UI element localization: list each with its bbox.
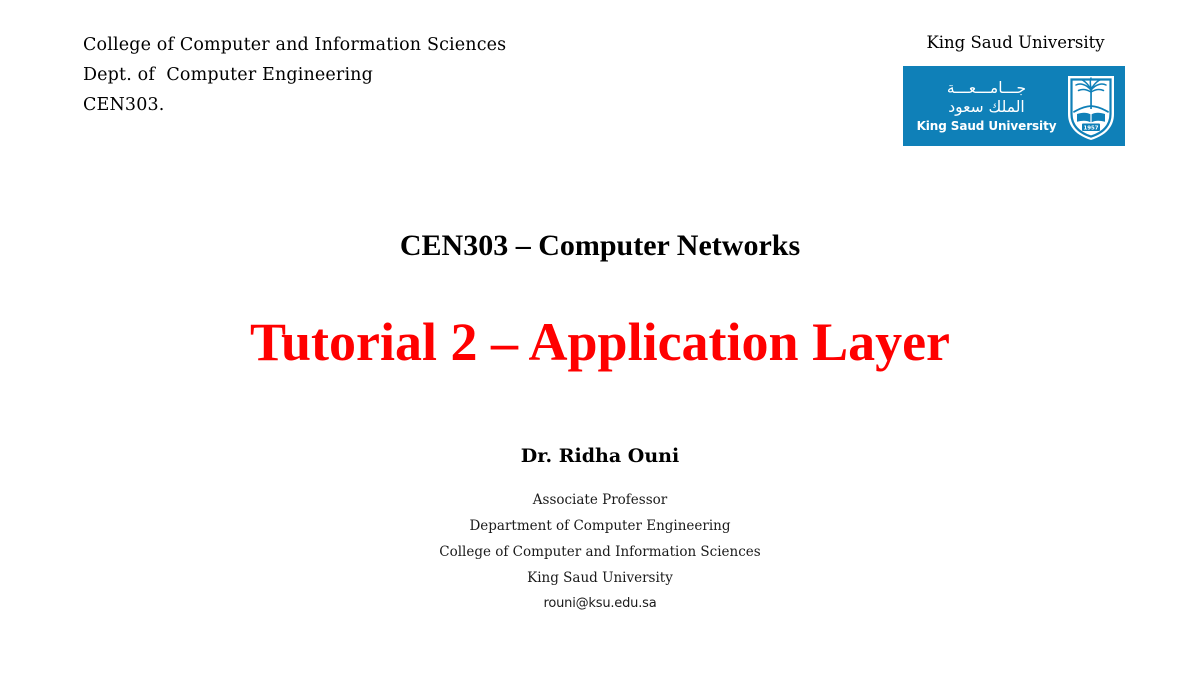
presenter-email: rouni@ksu.edu.sa: [0, 592, 1200, 616]
ksu-logo-arabic-line-1: جـــامـــعـــة: [911, 79, 1062, 98]
affiliation-line-college: College of Computer and Information Scie…: [0, 539, 1200, 565]
ksu-emblem-year: 1957: [1083, 125, 1098, 131]
department-line-college: College of Computer and Information Scie…: [83, 30, 603, 60]
department-line-course-code: CEN303.: [83, 90, 603, 120]
department-line-dept: Dept. of Computer Engineering: [83, 60, 603, 90]
affiliation-line-university: King Saud University: [0, 565, 1200, 591]
affiliation-line-department: Department of Computer Engineering: [0, 513, 1200, 539]
presenter-name: Dr. Ridha Ouni: [0, 443, 1200, 469]
ksu-logo-arabic-line-2: الملك سعود: [911, 98, 1062, 117]
course-title: CEN303 – Computer Networks: [0, 228, 1200, 264]
presenter-block: Dr. Ridha Ouni Associate Professor Depar…: [0, 443, 1200, 616]
ksu-logo-inner: جـــامـــعـــة الملك سعود King Saud Univ…: [903, 66, 1125, 146]
slide-canvas: College of Computer and Information Scie…: [0, 0, 1200, 676]
university-name-label: King Saud University: [903, 32, 1128, 54]
ksu-logo-latin-line: King Saud University: [911, 118, 1062, 134]
university-header-block: King Saud University: [903, 32, 1128, 54]
ksu-logo-text-group: جـــامـــعـــة الملك سعود King Saud Univ…: [903, 79, 1064, 134]
department-header-block: College of Computer and Information Scie…: [83, 30, 603, 120]
presenter-affiliation-list: Associate Professor Department of Comput…: [0, 487, 1200, 591]
main-title: Tutorial 2 – Application Layer: [0, 310, 1200, 374]
ksu-shield-emblem-icon: 1957: [1064, 70, 1118, 142]
ksu-logo: جـــامـــعـــة الملك سعود King Saud Univ…: [903, 66, 1125, 146]
affiliation-line-title: Associate Professor: [0, 487, 1200, 513]
